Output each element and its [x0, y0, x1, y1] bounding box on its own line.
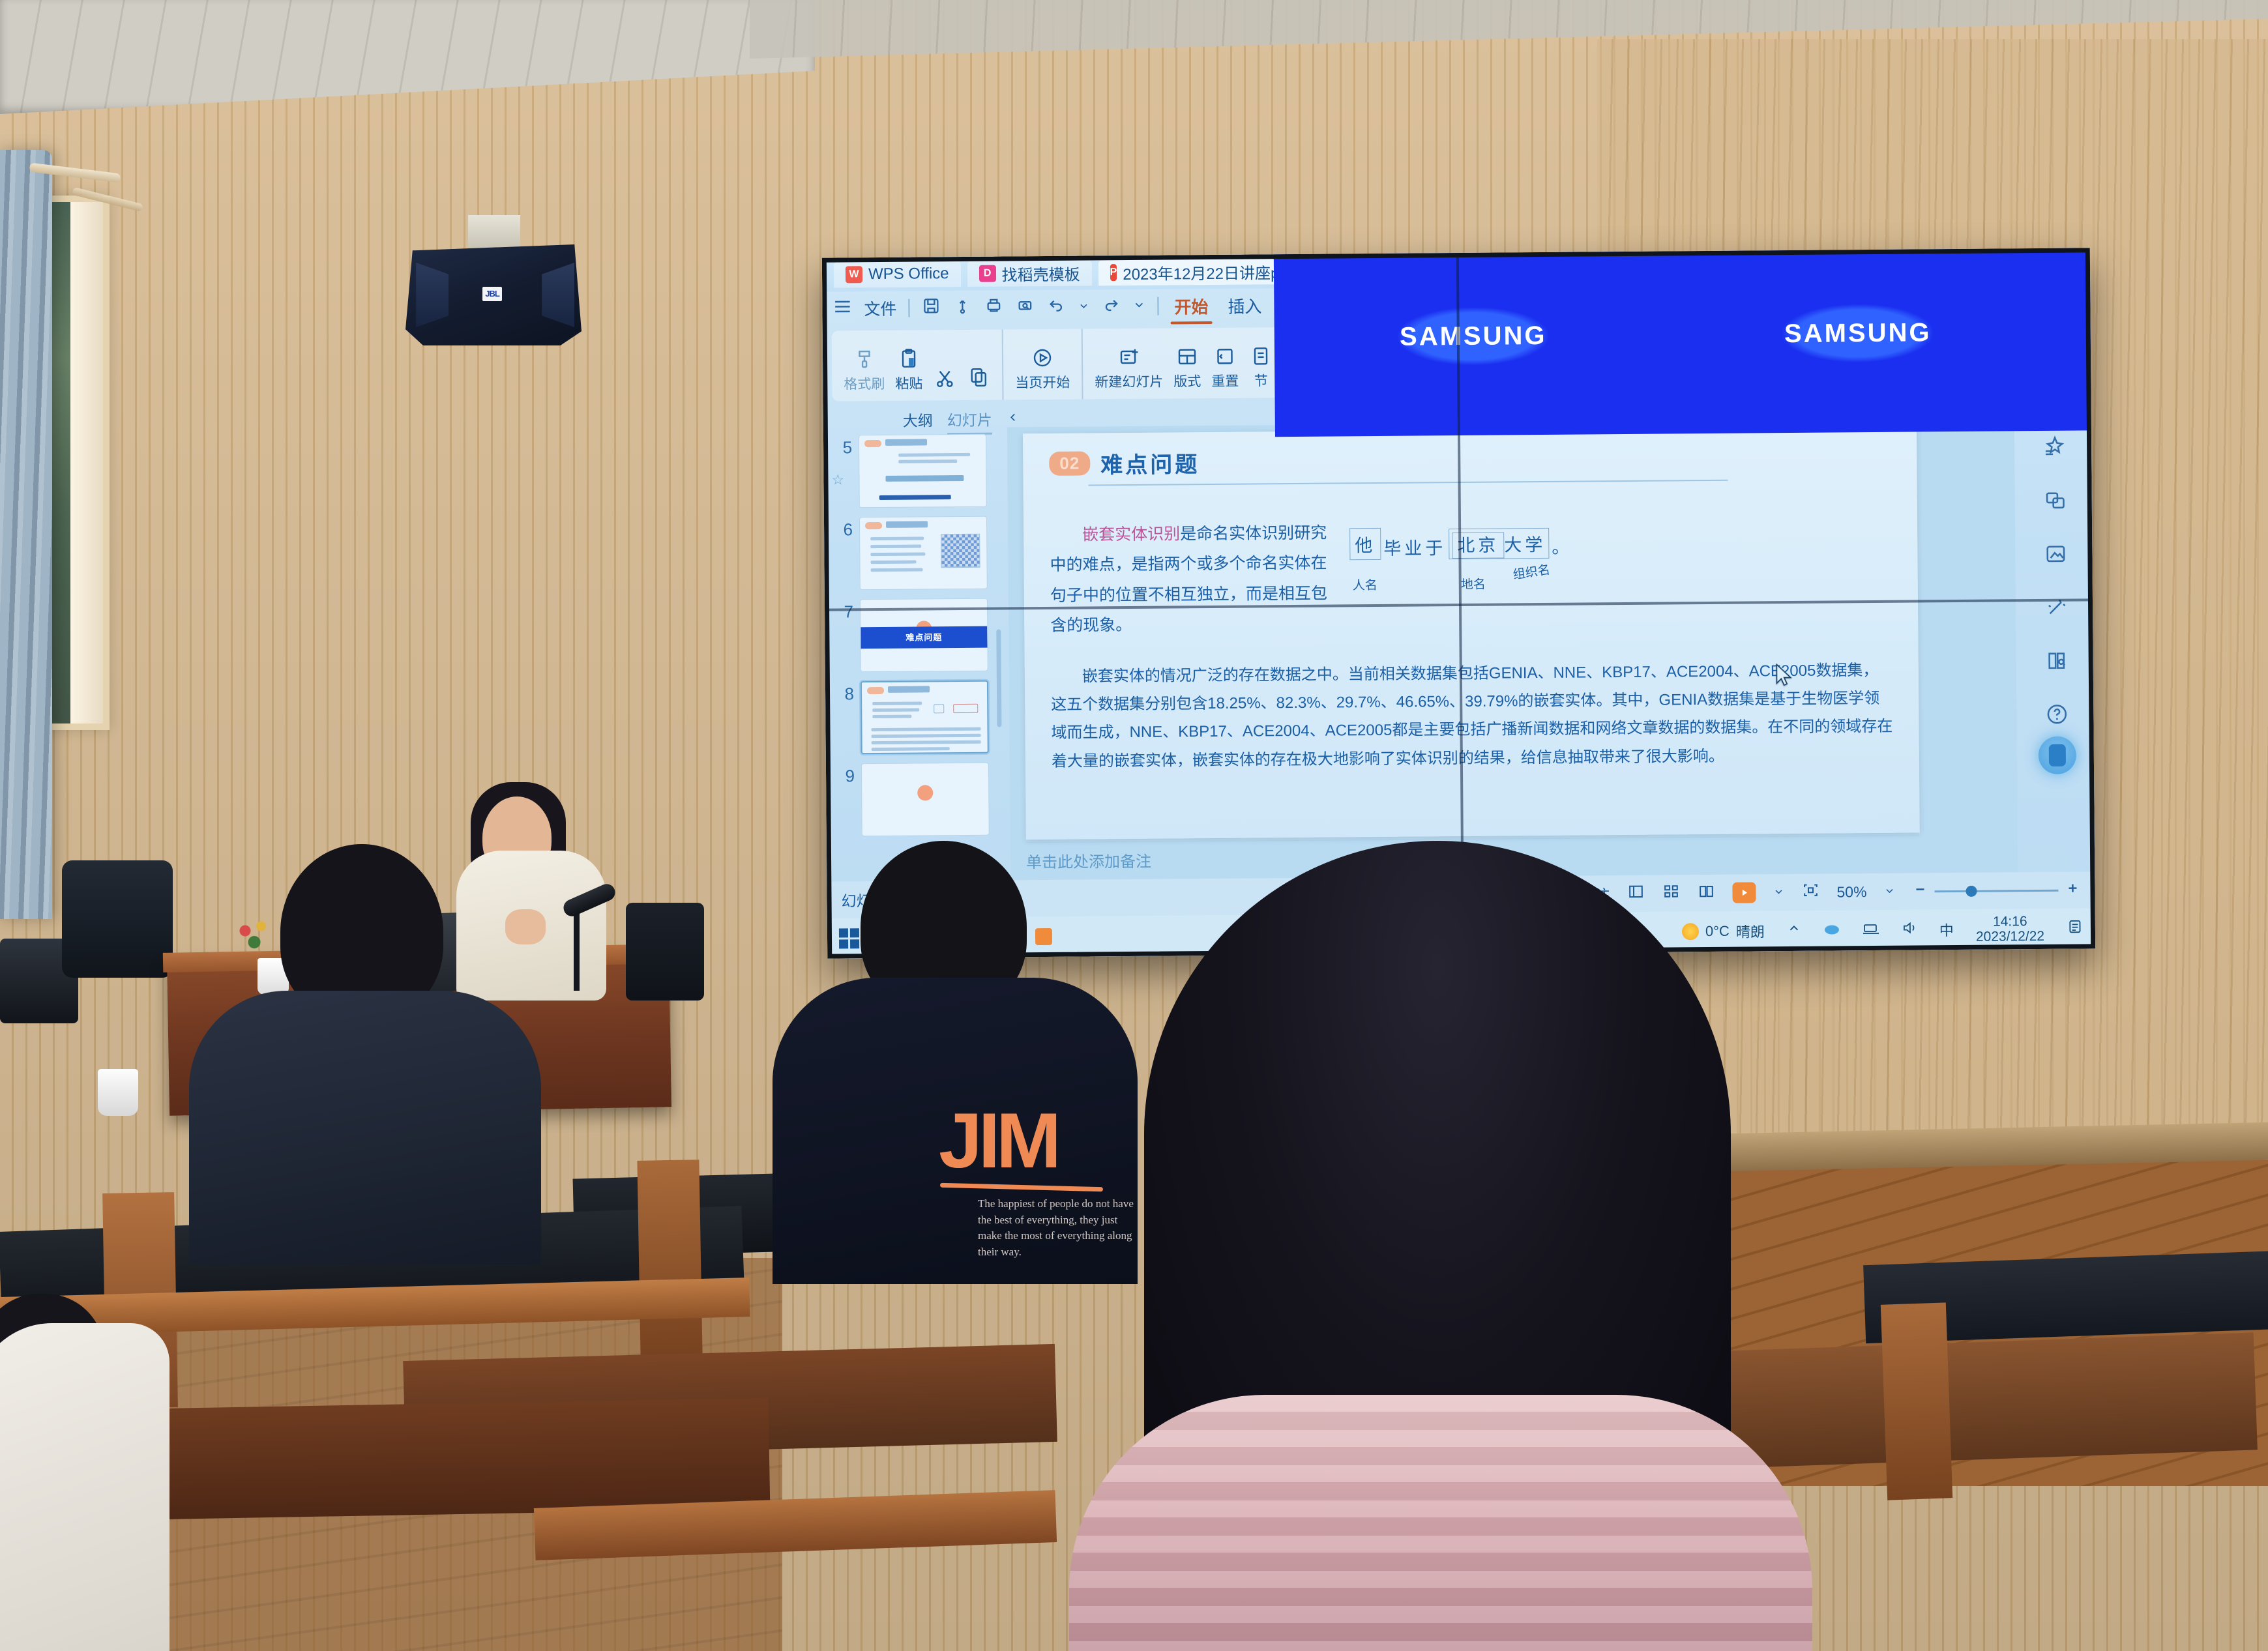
slide-thumbnail-rail[interactable]: 5 6	[830, 434, 1004, 882]
weather-condition: 晴朗	[1736, 920, 1765, 941]
cut-button[interactable]	[933, 366, 956, 400]
example-labels: 人名 地名 组织名	[1350, 560, 1892, 593]
copy-button[interactable]	[967, 366, 990, 400]
document-search-icon[interactable]	[2044, 649, 2069, 673]
zoom-track[interactable]	[1934, 889, 2058, 892]
ribbon-label: 新建幻灯片	[1095, 372, 1163, 392]
ribbon-tab-home[interactable]: 开始	[1170, 293, 1212, 318]
ribbon-tab-insert[interactable]: 插入	[1224, 293, 1265, 318]
slide-canvas-area[interactable]: 02 难点问题 嵌套实体识别是命名实体识别研究中的难点，是指两个或多个命名实体在…	[1007, 419, 2018, 880]
print-preview-icon[interactable]	[1015, 295, 1035, 319]
thumbnail-scrollbar[interactable]	[996, 630, 1001, 727]
zoom-out-icon[interactable]	[1912, 881, 1928, 901]
zoom-in-icon[interactable]	[2065, 881, 2080, 900]
zoom-level-label[interactable]: 50%	[1836, 883, 1866, 901]
thumbnail-number: 6	[831, 517, 853, 540]
bench-support-2	[637, 1160, 702, 1356]
new-slide-button[interactable]: 新建幻灯片	[1095, 345, 1164, 400]
example-sentence: 他 毕业于 北京大学 。	[1349, 524, 1891, 561]
wps-ribbon[interactable]: 格式刷 粘贴 当页开始	[832, 327, 1289, 401]
slide-badge-icon	[867, 687, 884, 694]
slideshow-play-icon[interactable]	[1732, 882, 1756, 903]
tab-presentation-file[interactable]: P 2023年12月22日讲座ppt	[1098, 258, 1293, 285]
chair-behind-presenter	[626, 903, 704, 1001]
entity-person: 他	[1349, 528, 1381, 560]
ribbon-label: 当页开始	[1015, 372, 1070, 392]
slide-thumbnail-6[interactable]	[859, 516, 988, 591]
chair-back-left	[62, 860, 173, 978]
shape-union-icon[interactable]	[2043, 488, 2068, 513]
clock-time: 14:16	[1976, 914, 2044, 929]
paper-cup-desk	[98, 1069, 138, 1116]
wps-icon[interactable]	[1030, 923, 1057, 950]
divider	[908, 299, 909, 317]
windows-start-icon[interactable]	[839, 928, 859, 948]
ribbon-label: 格式刷	[844, 373, 885, 393]
samsung-logo-icon: SAMSUNG	[1782, 304, 1933, 362]
slide-sorter-icon[interactable]	[1662, 882, 1680, 904]
thumbnail-row[interactable]: 9	[832, 762, 1004, 836]
play-from-current-slide-button[interactable]: 当页开始	[1015, 346, 1070, 400]
slide-thumbnail-9[interactable]	[861, 763, 990, 837]
ribbon-label: 节	[1254, 370, 1268, 390]
label-location: 地名	[1461, 575, 1486, 592]
current-slide[interactable]: 02 难点问题 嵌套实体识别是命名实体识别研究中的难点，是指两个或多个命名实体在…	[1023, 426, 1920, 840]
slide-title-bar	[886, 521, 928, 528]
slide-title[interactable]: 难点问题	[1100, 446, 1200, 479]
slide-paragraph-1[interactable]: 嵌套实体识别是命名实体识别研究中的难点，是指两个或多个命名实体在句子中的位置不相…	[1050, 518, 1331, 641]
label-person: 人名	[1353, 576, 1377, 593]
hoodie-graphic-text: JIM	[939, 1102, 1128, 1180]
hamburger-icon[interactable]	[832, 297, 852, 321]
hoodie-quote-text: The happiest of people do not have the b…	[978, 1196, 1134, 1261]
undo-dropdown-icon[interactable]	[1078, 297, 1089, 316]
tab-label: 2023年12月22日讲座ppt	[1123, 259, 1292, 284]
picture-edit-icon[interactable]	[2043, 542, 2068, 566]
pane-tab-slides[interactable]: 幻灯片	[947, 408, 992, 431]
entity-organization: 北京大学	[1449, 528, 1549, 559]
clock-date: 2023/12/22	[1976, 929, 2044, 944]
pane-tab-group[interactable]: 大纲 幻灯片	[903, 407, 1020, 430]
slide-title-underline	[1089, 480, 1728, 486]
slide-body: 嵌套实体识别是命名实体识别研究中的难点，是指两个或多个命名实体在句子中的位置不相…	[1050, 514, 1892, 641]
jbl-logo-icon: JBL	[482, 287, 502, 301]
weather-widget[interactable]: 0°C 晴朗	[1682, 920, 1765, 942]
zoom-slider[interactable]	[1912, 881, 2080, 901]
file-menu-label[interactable]: 文件	[864, 297, 896, 320]
more-dropdown-icon[interactable]	[1132, 297, 1145, 315]
ribbon-label: 粘贴	[895, 373, 922, 392]
window-curtain	[0, 150, 52, 919]
tab-find-template[interactable]: D 找稻壳模板	[967, 259, 1091, 286]
clock[interactable]: 14:16 2023/12/22	[1976, 914, 2044, 944]
notification-icon[interactable]	[2067, 918, 2084, 939]
ribbon-group-slides: 新建幻灯片 版式 重置 节	[1083, 327, 1285, 399]
cloud-sync-icon[interactable]	[952, 295, 972, 319]
network-icon[interactable]	[1863, 922, 1879, 939]
slide-thumbnail-8[interactable]	[861, 680, 989, 755]
divider	[1157, 297, 1158, 315]
volume-icon[interactable]	[1902, 920, 1917, 939]
thumbnail-row[interactable]: 5	[830, 434, 1001, 508]
ribbon-label: 版式	[1173, 371, 1201, 390]
cloud-icon[interactable]	[1823, 921, 1840, 939]
microphone-stand	[574, 906, 580, 991]
paste-button[interactable]: 粘贴	[895, 347, 923, 400]
example-token-university: 大学	[1504, 535, 1546, 555]
slide-number-badge: 02	[1049, 451, 1090, 475]
slide-title-bar	[885, 439, 927, 446]
slide-header: 02 难点问题	[1049, 441, 1891, 480]
slide-title-bar	[888, 686, 930, 693]
section-button[interactable]: 节	[1249, 344, 1273, 398]
undo-icon[interactable]	[1046, 295, 1066, 319]
audience-person-3-coat	[1069, 1395, 1812, 1651]
template-icon: D	[979, 265, 995, 282]
highlighted-term: 嵌套实体识别	[1082, 525, 1180, 544]
flower-arrangement	[231, 913, 277, 958]
weather-temperature: 0°C	[1705, 923, 1730, 940]
powerpoint-file-icon: P	[1110, 264, 1117, 281]
example-token-period: 。	[1552, 533, 1572, 559]
thumbnail-row[interactable]: 6	[831, 516, 1002, 591]
reading-view-icon[interactable]	[1697, 882, 1715, 904]
right-tool-rail[interactable]	[2018, 418, 2095, 872]
ime-indicator[interactable]: 中	[1939, 919, 1954, 940]
zoom-knob[interactable]	[1966, 885, 1977, 896]
slide-thumbnail-5[interactable]	[859, 434, 987, 508]
example-token-verb: 毕业于	[1383, 534, 1446, 560]
ribbon-group-clipboard: 格式刷 粘贴	[832, 329, 1004, 401]
save-icon[interactable]	[921, 296, 941, 320]
slideshow-dropdown-icon[interactable]	[1773, 884, 1784, 901]
smart-design-icon[interactable]	[2042, 435, 2067, 460]
thumbnail-number: 8	[832, 681, 854, 704]
print-icon[interactable]	[984, 295, 1003, 319]
presenter-hand	[505, 909, 546, 944]
desk-row-right-front	[1667, 1332, 2258, 1470]
tab-label: WPS Office	[868, 265, 949, 284]
help-icon[interactable]	[2044, 702, 2069, 727]
sunny-icon	[1682, 923, 1699, 940]
tab-wps-office[interactable]: W WPS Office	[834, 261, 961, 288]
thumbnail-row[interactable]: 8 ☆	[832, 680, 1003, 754]
normal-view-icon[interactable]	[1627, 883, 1645, 905]
assistant-fab-icon[interactable]	[2039, 737, 2076, 774]
format-painter-button[interactable]: 格式刷	[844, 347, 885, 401]
example-figure[interactable]: 他 毕业于 北京大学 。 人名 地名 组织名	[1349, 514, 1892, 639]
slide-thumbnail-image	[941, 534, 980, 568]
ribbon-label: 重置	[1211, 371, 1239, 390]
speaker-mount-bracket	[468, 215, 520, 249]
layout-button[interactable]: 版式	[1173, 345, 1201, 398]
label-organization: 组织名	[1512, 560, 1551, 583]
slide-badge-icon	[864, 440, 881, 447]
ribbon-group-slideshow: 当页开始	[1003, 329, 1083, 400]
zoom-dropdown-icon[interactable]	[1883, 883, 1895, 900]
section-title: 难点问题	[906, 631, 942, 643]
pane-tab-outline[interactable]: 大纲	[903, 408, 933, 430]
favorite-star-icon[interactable]: ☆	[831, 471, 844, 488]
slide-paragraph-2[interactable]: 嵌套实体的情况广泛的存在数据之中。当前相关数据集包括GENIA、NNE、KBP1…	[1051, 656, 1893, 776]
samsung-logo-icon: SAMSUNG	[1398, 307, 1548, 366]
tab-label: 找稻壳模板	[1001, 261, 1080, 285]
fit-to-window-icon[interactable]	[1801, 881, 1819, 903]
show-hidden-icons-icon[interactable]	[1787, 922, 1801, 940]
thumbnail-number: 9	[832, 763, 855, 786]
collapse-chevron-icon[interactable]	[1007, 410, 1020, 428]
ceiling-panels	[0, 0, 815, 114]
section-badge-icon	[917, 785, 933, 800]
bench-support-3	[1881, 1302, 1952, 1500]
audience-person-4-body	[0, 1323, 169, 1651]
samsung-blue-screen-overlay: SAMSUNG SAMSUNG	[1274, 248, 2091, 437]
audience-person-1-body	[189, 991, 541, 1264]
reset-button[interactable]: 重置	[1211, 345, 1239, 398]
wps-logo-icon: W	[846, 266, 862, 283]
redo-icon[interactable]	[1101, 295, 1121, 319]
thumbnail-number: 5	[830, 435, 852, 458]
slide-badge-icon	[865, 522, 882, 529]
